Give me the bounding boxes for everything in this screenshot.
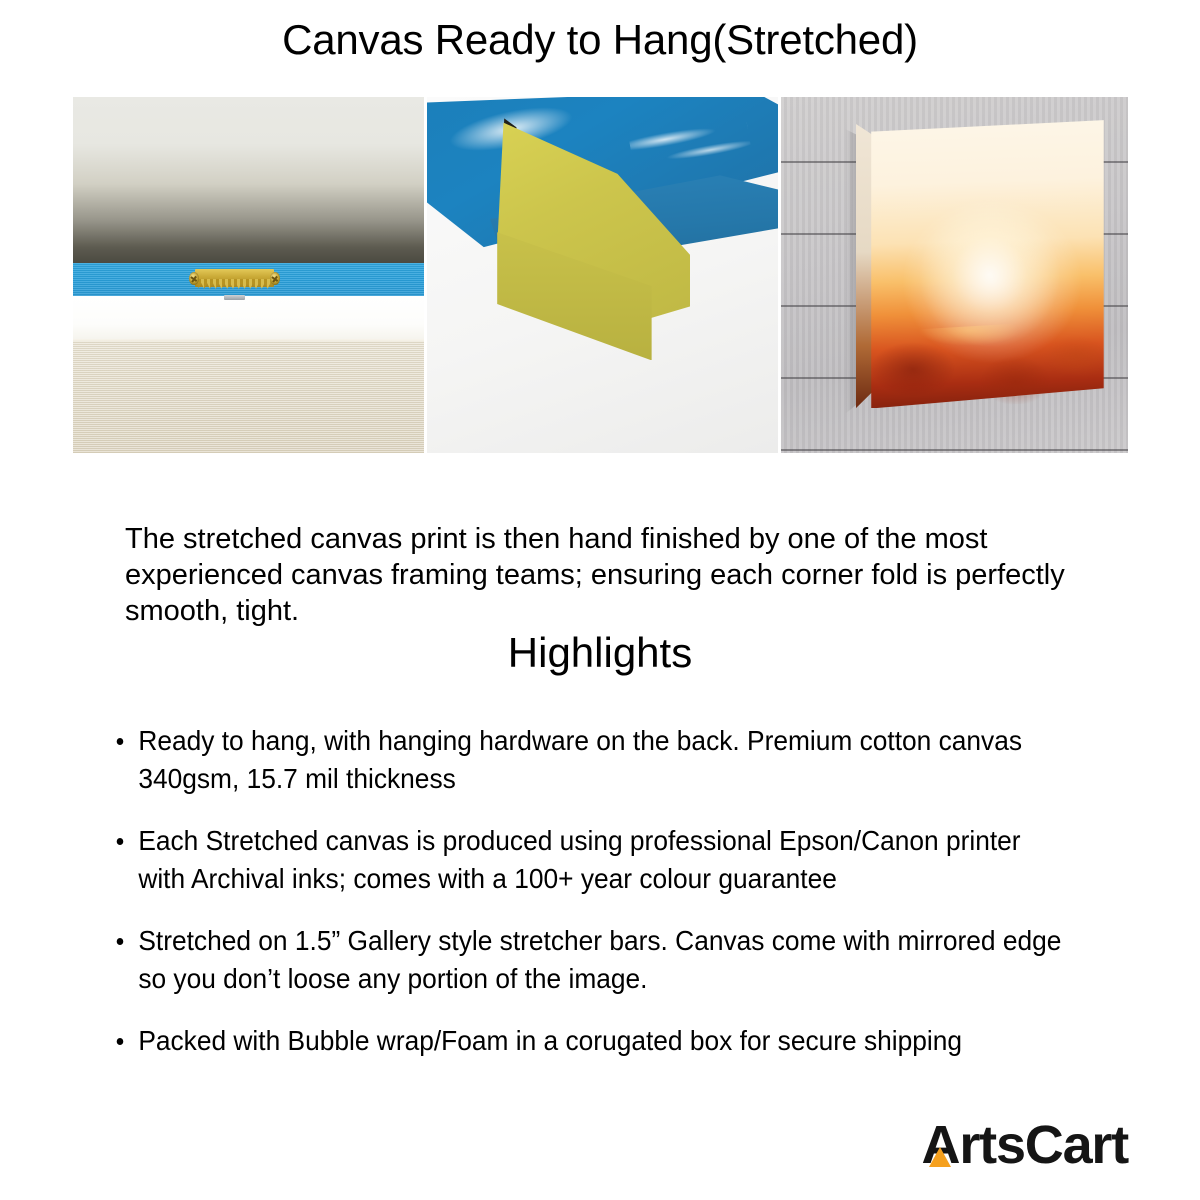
- bullet-icon: [117, 938, 124, 945]
- list-item-label: Packed with Bubble wrap/Foam in a coruga…: [138, 1025, 962, 1056]
- list-item-label: Each Stretched canvas is produced using …: [138, 825, 1020, 894]
- list-item-label: Ready to hang, with hanging hardware on …: [138, 725, 1022, 794]
- page-title: Canvas Ready to Hang(Stretched): [0, 14, 1200, 66]
- sawtooth-hanger-icon: [187, 268, 282, 289]
- list-item: Stretched on 1.5” Gallery style stretche…: [112, 922, 1061, 998]
- list-item: Each Stretched canvas is produced using …: [112, 822, 1061, 898]
- hanger-clip: [224, 295, 245, 301]
- bullet-icon: [117, 738, 124, 745]
- canvas-white-band: [73, 296, 424, 342]
- highlights-list: Ready to hang, with hanging hardware on …: [112, 722, 1122, 1060]
- wall-background: [73, 97, 424, 264]
- canvas-back-face: [73, 341, 424, 453]
- bullet-icon: [117, 838, 124, 845]
- hung-canvas-photo: [781, 97, 1128, 453]
- bullet-icon: [117, 1038, 124, 1045]
- canvas-side-edge: [856, 124, 873, 409]
- list-item: Ready to hang, with hanging hardware on …: [112, 722, 1061, 798]
- list-item-label: Stretched on 1.5” Gallery style stretche…: [138, 925, 1061, 994]
- logo-wordmark: rtsCart: [959, 1118, 1128, 1172]
- logo-letter-a: A: [922, 1118, 960, 1172]
- hanger-teeth: [198, 279, 270, 289]
- canvas-back-hanger-photo: [73, 97, 424, 453]
- intro-paragraph: The stretched canvas print is then hand …: [125, 521, 1070, 629]
- brand-logo: A rtsCart: [922, 1118, 1128, 1172]
- sun-glow: [920, 204, 1059, 346]
- highlights-heading: Highlights: [0, 627, 1200, 679]
- list-item: Packed with Bubble wrap/Foam in a coruga…: [112, 1022, 1061, 1060]
- product-image-gallery: [73, 97, 1128, 453]
- triangle-icon: [929, 1147, 951, 1167]
- hanger-screw-right: [270, 272, 280, 286]
- corner-fold-photo: [427, 97, 778, 453]
